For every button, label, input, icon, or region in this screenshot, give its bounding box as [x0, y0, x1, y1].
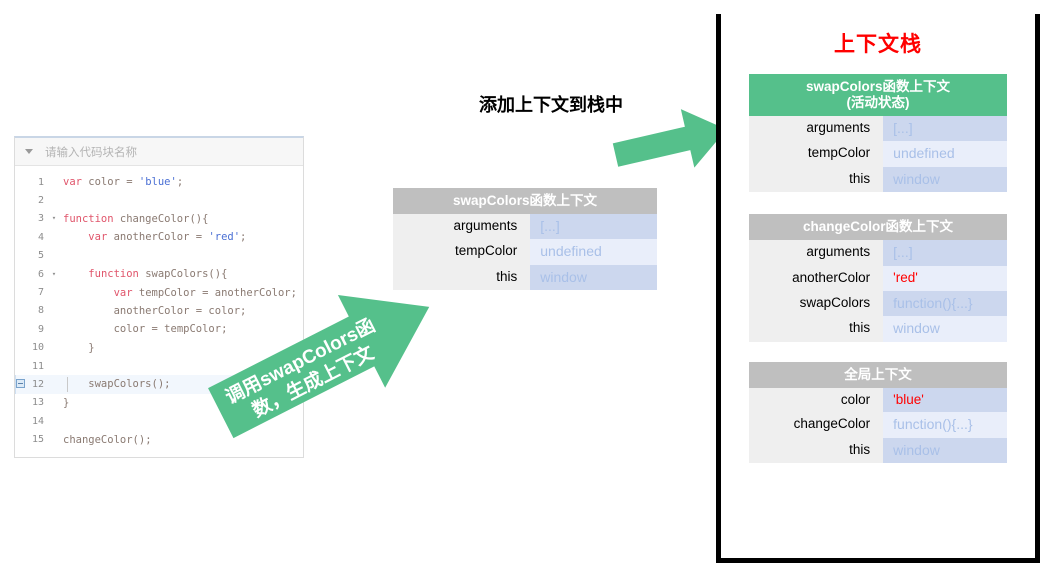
code-token: ; — [177, 176, 183, 188]
code-text: changeColor(); — [59, 434, 152, 446]
stack-frame-header: swapColors函数上下文(活动状态) — [749, 74, 1007, 116]
stack-frame-rows: arguments[...]anotherColor'red'swapColor… — [749, 240, 1007, 341]
code-line[interactable]: 5 — [15, 247, 303, 265]
code-token: (){ — [189, 213, 208, 225]
line-number: 10 — [15, 342, 49, 353]
code-token: ; — [240, 231, 246, 243]
code-token: var — [88, 231, 107, 243]
diagonal-arrow: 调用swapColors函 数，生成上下文 — [190, 280, 460, 440]
code-token: color — [63, 323, 152, 335]
code-token: var — [114, 287, 133, 299]
context-row-value: function(){...} — [883, 291, 1007, 317]
context-row: tempColorundefined — [393, 239, 657, 265]
code-text: var anotherColor = 'red'; — [59, 231, 246, 243]
context-row-value: [...] — [883, 116, 1007, 142]
stack-title: 上下文栈 — [721, 28, 1035, 58]
line-number: 1 — [15, 177, 49, 188]
floating-context-rows: arguments[...]tempColorundefinedthiswind… — [393, 214, 657, 291]
code-token: = — [126, 176, 139, 188]
code-text: } — [59, 342, 95, 354]
code-token: = — [196, 231, 209, 243]
line-number: 8 — [15, 305, 49, 316]
context-row-value: window — [883, 316, 1007, 342]
diagram-canvas: 请输入代码块名称 1var color = 'blue';23▾function… — [0, 0, 1055, 576]
code-block-name-input[interactable]: 请输入代码块名称 — [45, 144, 137, 160]
context-row: thiswindow — [393, 265, 657, 291]
horizontal-arrow — [612, 96, 732, 171]
context-stack-container: 上下文栈 swapColors函数上下文(活动状态)arguments[...]… — [716, 14, 1040, 563]
breakpoint-icon[interactable] — [16, 379, 25, 388]
code-text: var color = 'blue'; — [59, 176, 183, 188]
context-row-key: anotherColor — [749, 266, 883, 291]
code-token: changeColor — [63, 434, 133, 446]
stack-frame-header-line2: (活动状态) — [753, 95, 1003, 111]
context-row-key: changeColor — [749, 412, 883, 438]
context-row-key: color — [749, 388, 883, 413]
code-token: color — [82, 176, 126, 188]
code-text: function changeColor(){ — [59, 213, 208, 225]
context-row-value: window — [883, 438, 1007, 464]
code-line[interactable]: 1var color = 'blue'; — [15, 173, 303, 191]
context-row: thiswindow — [749, 438, 1007, 464]
code-token: function — [88, 268, 139, 280]
horizontal-arrow-shape — [609, 100, 734, 184]
line-number: 15 — [15, 434, 49, 445]
context-row-value: [...] — [530, 214, 657, 240]
context-row: arguments[...] — [393, 214, 657, 240]
code-line[interactable]: 4 var anotherColor = 'red'; — [15, 228, 303, 246]
indent-guide — [67, 377, 68, 392]
stack-frame: changeColor函数上下文arguments[...]anotherCol… — [749, 214, 1007, 341]
context-row-key: this — [393, 265, 530, 291]
context-row: color'blue' — [749, 388, 1007, 413]
code-token: var — [63, 176, 82, 188]
stack-frame-header: 全局上下文 — [749, 362, 1007, 388]
chevron-down-icon[interactable] — [25, 149, 33, 154]
code-token: } — [63, 342, 95, 354]
code-token: swapColors — [139, 268, 209, 280]
stack-frame-header: changeColor函数上下文 — [749, 214, 1007, 240]
code-text: swapColors(); — [59, 378, 170, 390]
stack-frame-rows: arguments[...]tempColorundefinedthiswind… — [749, 116, 1007, 193]
code-token: = — [152, 323, 165, 335]
code-token: 'red' — [208, 231, 240, 243]
line-number: 4 — [15, 232, 49, 243]
context-row: arguments[...] — [749, 240, 1007, 266]
line-number: 13 — [15, 397, 49, 408]
line-number: 14 — [15, 416, 49, 427]
context-row-value: window — [883, 167, 1007, 193]
code-token: anotherColor — [63, 305, 196, 317]
stack-frame-header-line1: changeColor函数上下文 — [753, 219, 1003, 235]
context-row-value: undefined — [883, 141, 1007, 167]
floating-context-header: swapColors函数上下文 — [393, 188, 657, 214]
context-row-key: this — [749, 167, 883, 193]
context-row-value: 'blue' — [883, 388, 1007, 413]
context-row-key: this — [749, 438, 883, 464]
code-token: swapColors — [63, 378, 152, 390]
line-number: 3 — [15, 213, 49, 224]
line-number: 11 — [15, 361, 49, 372]
line-number: 7 — [15, 287, 49, 298]
code-text: function swapColors(){ — [59, 268, 227, 280]
code-token: (); — [133, 434, 152, 446]
context-row-value: 'red' — [883, 266, 1007, 291]
fold-toggle-icon[interactable]: ▾ — [49, 215, 59, 222]
horizontal-arrow-label: 添加上下文到栈中 — [479, 91, 623, 117]
context-row-key: arguments — [749, 240, 883, 266]
code-block-name-bar[interactable]: 请输入代码块名称 — [15, 138, 303, 166]
context-row: swapColorsfunction(){...} — [749, 291, 1007, 317]
code-token: function — [63, 213, 114, 225]
context-row: thiswindow — [749, 316, 1007, 342]
line-number: 2 — [15, 195, 49, 206]
code-token: anotherColor — [107, 231, 196, 243]
floating-context-table: swapColors函数上下文 arguments[...]tempColoru… — [393, 188, 657, 290]
stack-frame: swapColors函数上下文(活动状态)arguments[...]tempC… — [749, 74, 1007, 192]
code-token: (); — [152, 378, 171, 390]
context-row: anotherColor'red' — [749, 266, 1007, 291]
code-token: } — [63, 397, 69, 409]
code-token: changeColor — [114, 213, 190, 225]
code-line[interactable]: 3▾function changeColor(){ — [15, 210, 303, 228]
context-row: tempColorundefined — [749, 141, 1007, 167]
stack-frame-header-line1: 全局上下文 — [753, 367, 1003, 383]
code-line[interactable]: 2 — [15, 191, 303, 209]
stack-frame: 全局上下文color'blue'changeColorfunction(){..… — [749, 362, 1007, 464]
stack-frames-list: swapColors函数上下文(活动状态)arguments[...]tempC… — [721, 74, 1035, 463]
context-row: changeColorfunction(){...} — [749, 412, 1007, 438]
context-row-key: arguments — [393, 214, 530, 240]
context-row-key: this — [749, 316, 883, 342]
context-row-value: undefined — [530, 239, 657, 265]
line-number: 5 — [15, 250, 49, 261]
code-text: } — [59, 397, 69, 409]
line-number: 6 — [15, 269, 49, 280]
line-number: 9 — [15, 324, 49, 335]
context-row-key: tempColor — [749, 141, 883, 167]
context-row-value: function(){...} — [883, 412, 1007, 438]
code-token — [63, 287, 114, 299]
stack-frame-header-line1: swapColors函数上下文 — [753, 79, 1003, 95]
context-row-key: tempColor — [393, 239, 530, 265]
context-row: thiswindow — [749, 167, 1007, 193]
context-row-value: window — [530, 265, 657, 291]
code-token: (){ — [208, 268, 227, 280]
fold-toggle-icon[interactable]: ▾ — [49, 271, 59, 278]
context-row-key: swapColors — [749, 291, 883, 317]
context-row-value: [...] — [883, 240, 1007, 266]
code-token — [63, 268, 88, 280]
code-token: 'blue' — [139, 176, 177, 188]
code-token — [63, 231, 88, 243]
context-row: arguments[...] — [749, 116, 1007, 142]
context-row-key: arguments — [749, 116, 883, 142]
stack-frame-rows: color'blue'changeColorfunction(){...}thi… — [749, 388, 1007, 464]
